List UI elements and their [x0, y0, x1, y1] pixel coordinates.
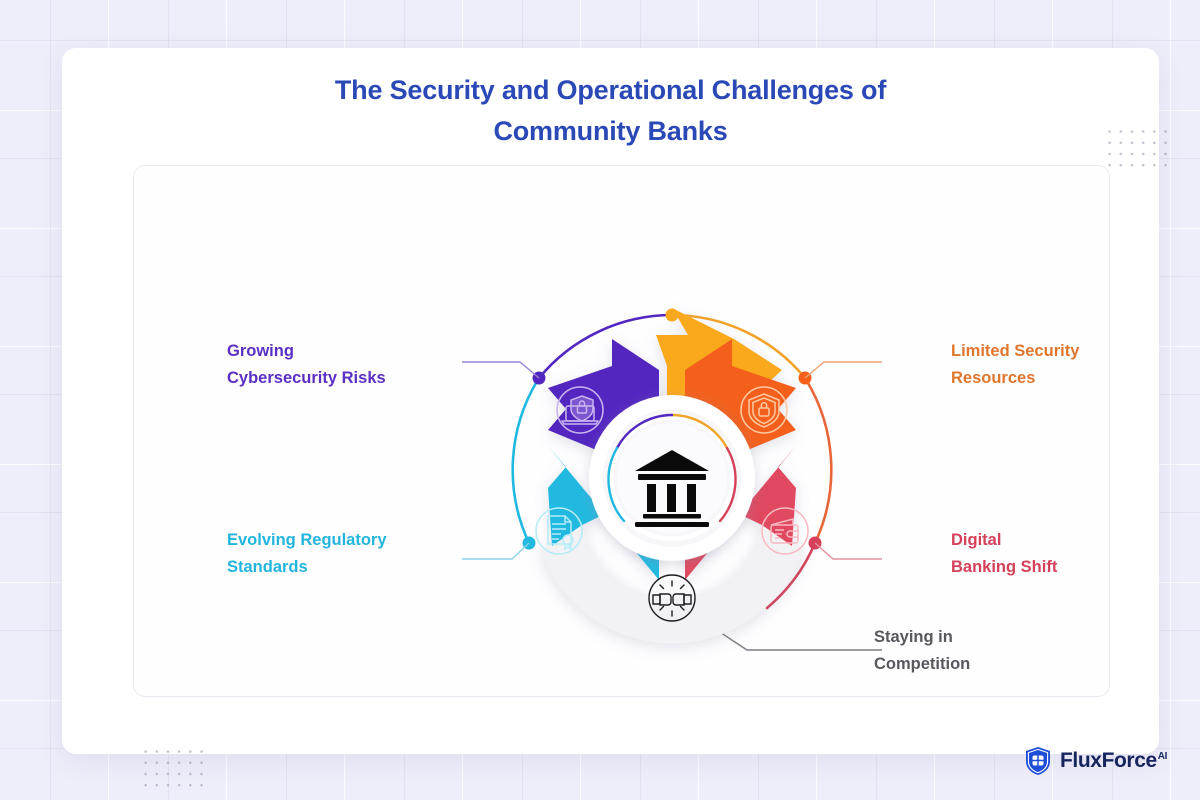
label-line-2: Banking Shift: [951, 554, 1166, 581]
donut-wheel-diagram: [462, 278, 882, 678]
label-digital-banking-shift[interactable]: Digital Banking Shift: [951, 527, 1166, 581]
page-title-line-2: Community Banks: [231, 111, 991, 152]
logo-text: FluxForceAI: [1060, 749, 1167, 773]
label-line-1: Digital: [951, 527, 1166, 554]
center-hub: [589, 395, 755, 561]
logo-superscript: AI: [1158, 751, 1167, 762]
label-line-1: Evolving Regulatory: [227, 527, 442, 554]
outer-arc-left: [513, 378, 539, 543]
label-line-1: Staying in: [874, 624, 1089, 651]
logo[interactable]: FluxForceAI: [1024, 746, 1167, 776]
page-title-line-1: The Security and Operational Challenges …: [231, 70, 991, 111]
label-line-1: Limited Security: [951, 338, 1166, 365]
page-title: The Security and Operational Challenges …: [231, 70, 991, 152]
label-line-2: Resources: [951, 365, 1166, 392]
label-limited-security-resources[interactable]: Limited Security Resources: [951, 338, 1166, 392]
outer-arc-right: [805, 378, 831, 543]
connector-evolving: [462, 543, 529, 559]
label-line-2: Cybersecurity Risks: [227, 365, 442, 392]
connector-digital: [815, 543, 882, 559]
main-card: The Security and Operational Challenges …: [62, 48, 1159, 754]
connector-growing: [462, 362, 539, 378]
logo-name: FluxForce: [1060, 749, 1157, 772]
label-line-2: Standards: [227, 554, 442, 581]
dot-grid-decoration-top-right: [1104, 126, 1174, 171]
connector-limited: [805, 362, 882, 378]
label-evolving-regulatory-standards[interactable]: Evolving Regulatory Standards: [227, 527, 442, 581]
label-line-2: Competition: [874, 651, 1089, 678]
shield-icon: [1024, 746, 1052, 776]
label-staying-in-competition[interactable]: Staying in Competition: [874, 624, 1089, 678]
label-growing-cybersecurity-risks[interactable]: Growing Cybersecurity Risks: [227, 338, 442, 392]
label-line-1: Growing: [227, 338, 442, 365]
dot-grid-decoration-bottom-left: [140, 746, 210, 791]
